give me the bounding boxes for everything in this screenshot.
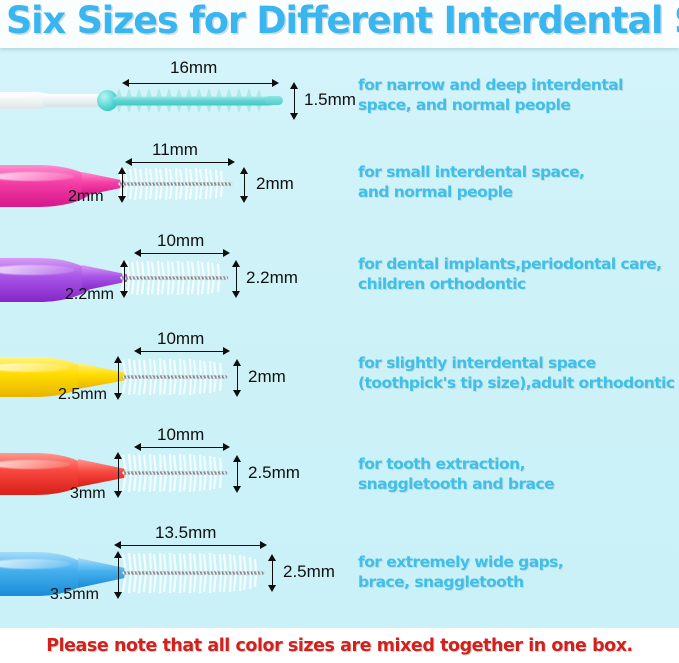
handle-dim-arrow-6 <box>114 551 123 599</box>
height-label-4: 2mm <box>248 367 286 387</box>
height-label-1: 1.5mm <box>304 90 356 110</box>
brush-wire-core-4 <box>122 376 227 379</box>
height-arrow-1 <box>290 82 299 120</box>
product-illustration-5: 10mm 2.5mm 3mm <box>0 430 350 520</box>
brush-6 <box>122 552 264 594</box>
product-row-4: 10mm 2mm 2.5mm for slightly interdental … <box>0 333 679 423</box>
handle-label-5: 3mm <box>70 485 106 503</box>
width-label-5: 10mm <box>157 425 204 445</box>
height-arrow-3 <box>232 260 241 298</box>
brush-wire-core-5 <box>122 472 227 475</box>
handle-dim-arrow-2 <box>118 167 127 203</box>
page-title: Six Sizes for Different Interdental Spac… <box>6 0 668 45</box>
handle-dim-arrow-3 <box>120 260 129 298</box>
description-1: for narrow and deep interdental space, a… <box>358 75 678 115</box>
product-row-2: 11mm 2mm 2mm for small interdental space… <box>0 150 679 230</box>
width-label-6: 13.5mm <box>155 523 216 543</box>
brush-2 <box>118 167 232 201</box>
product-row-3: 10mm 2.2mm 2.2mm for dental implants,per… <box>0 240 679 325</box>
brush-1 <box>112 87 275 114</box>
product-row-6: 13.5mm 2.5mm 3.5mm for extremely wide ga… <box>0 528 679 623</box>
width-label-1: 16mm <box>170 58 217 78</box>
brush-4 <box>122 358 227 396</box>
handle-label-2: 2mm <box>68 188 104 206</box>
description-6: for extremely wide gaps, brace, snagglet… <box>358 552 678 592</box>
handle-label-4: 2.5mm <box>58 386 107 404</box>
height-arrow-6 <box>268 554 277 592</box>
handle-label-6: 3.5mm <box>50 586 99 604</box>
width-label-3: 10mm <box>157 231 204 251</box>
description-4: for slightly interdental space (toothpic… <box>358 353 678 393</box>
width-label-4: 10mm <box>157 329 204 349</box>
mixed-box-note: Please note that all color sizes are mix… <box>0 628 679 663</box>
product-row-5: 10mm 2.5mm 3mm for tooth extraction, sna… <box>0 430 679 520</box>
product-row-1: 16mm 1.5mm for narrow and deep interdent… <box>0 60 679 140</box>
height-label-2: 2mm <box>256 174 294 194</box>
brush-core-1 <box>112 96 275 105</box>
product-illustration-6: 13.5mm 2.5mm 3.5mm <box>0 528 350 623</box>
note-band: Please note that all color sizes are mix… <box>0 628 679 663</box>
height-arrow-4 <box>233 359 242 397</box>
product-illustration-3: 10mm 2.2mm 2.2mm <box>0 240 350 325</box>
infographic-page: Six Sizes for Different Interdental Spac… <box>0 0 679 663</box>
product-illustration-4: 10mm 2mm 2.5mm <box>0 333 350 423</box>
brush-3 <box>120 260 228 296</box>
description-2: for small interdental space, and normal … <box>358 162 678 202</box>
handle-dim-arrow-5 <box>114 452 123 498</box>
brush-wire-core-6 <box>122 572 264 575</box>
height-label-3: 2.2mm <box>246 268 298 288</box>
product-illustration-1: 16mm 1.5mm <box>0 60 350 140</box>
height-label-6: 2.5mm <box>283 562 335 582</box>
height-arrow-5 <box>233 455 242 493</box>
product-illustration-2: 11mm 2mm 2mm <box>0 150 350 230</box>
brush-wire-core-2 <box>118 183 232 186</box>
height-arrow-2 <box>240 167 249 203</box>
description-3: for dental implants,periodontal care, ch… <box>358 254 678 294</box>
handle-label-3: 2.2mm <box>65 286 114 304</box>
width-arrow-1 <box>122 79 279 88</box>
title-band: Six Sizes for Different Interdental Spac… <box>0 0 679 48</box>
height-label-5: 2.5mm <box>248 463 300 483</box>
brush-wire-core-3 <box>120 277 228 280</box>
handle-neck-1 <box>42 94 104 107</box>
brush-5 <box>122 453 227 493</box>
width-label-2: 11mm <box>152 140 198 160</box>
handle-dim-arrow-4 <box>114 356 123 400</box>
description-5: for tooth extraction, snaggletooth and b… <box>358 454 678 494</box>
